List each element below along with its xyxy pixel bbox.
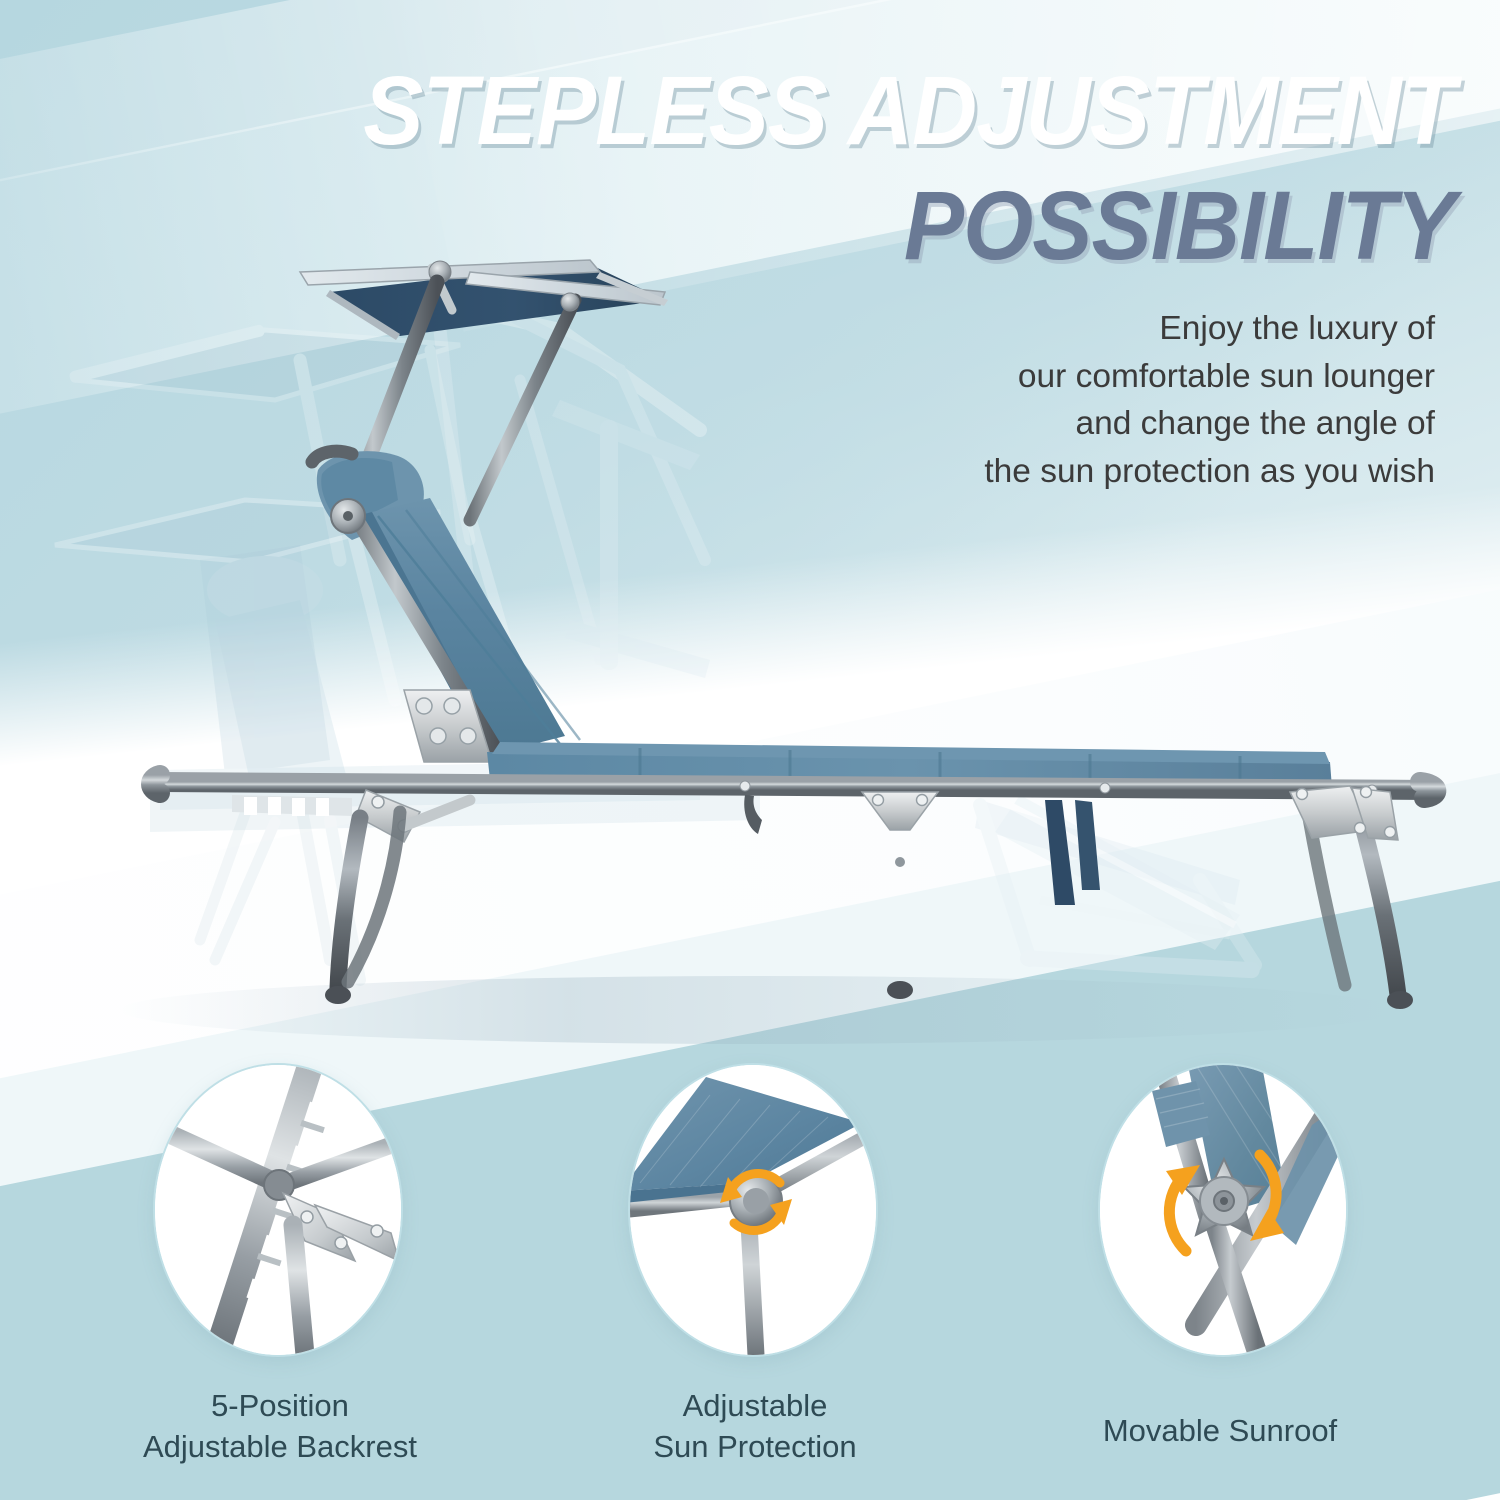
foot-cap-rear-right — [1387, 991, 1413, 1009]
lounger-svg — [0, 0, 1500, 1120]
promo-banner: STEPLESS ADJUSTMENT POSSIBILITY Enjoy th… — [0, 0, 1500, 1500]
leg-rear-right — [1290, 786, 1413, 1009]
caption-backrest: 5-Position Adjustable Backrest — [60, 1385, 500, 1467]
feature-circles — [0, 1060, 1500, 1360]
lounger-side-rail — [160, 782, 1430, 790]
caption-backrest-line-2: Adjustable Backrest — [60, 1426, 500, 1467]
caption-sun-protection-line-2: Sun Protection — [540, 1426, 970, 1467]
foot-cap-middle — [887, 981, 913, 999]
caption-sun-protection: Adjustable Sun Protection — [540, 1385, 970, 1467]
caption-backrest-line-1: 5-Position — [60, 1385, 500, 1426]
foot-cap-front-left — [325, 986, 351, 1004]
description-block: Enjoy the luxury of our comfortable sun … — [795, 305, 1435, 495]
circle-sun-protection-detail — [630, 1065, 876, 1355]
description-line-4: the sun protection as you wish — [795, 448, 1435, 496]
product-illustration — [0, 0, 1500, 1120]
description-line-2: our comfortable sun lounger — [795, 353, 1435, 401]
description-line-1: Enjoy the luxury of — [795, 305, 1435, 353]
caption-sunroof: Movable Sunroof — [1000, 1410, 1440, 1451]
caption-sunroof-line-1: Movable Sunroof — [1000, 1410, 1440, 1451]
rail-notch-comb — [232, 795, 352, 816]
caption-sun-protection-line-1: Adjustable — [540, 1385, 970, 1426]
circle-backrest-detail — [155, 1065, 401, 1355]
leg-middle — [862, 792, 938, 999]
circle-sunroof-detail — [1100, 1065, 1346, 1355]
description-line-3: and change the angle of — [795, 400, 1435, 448]
